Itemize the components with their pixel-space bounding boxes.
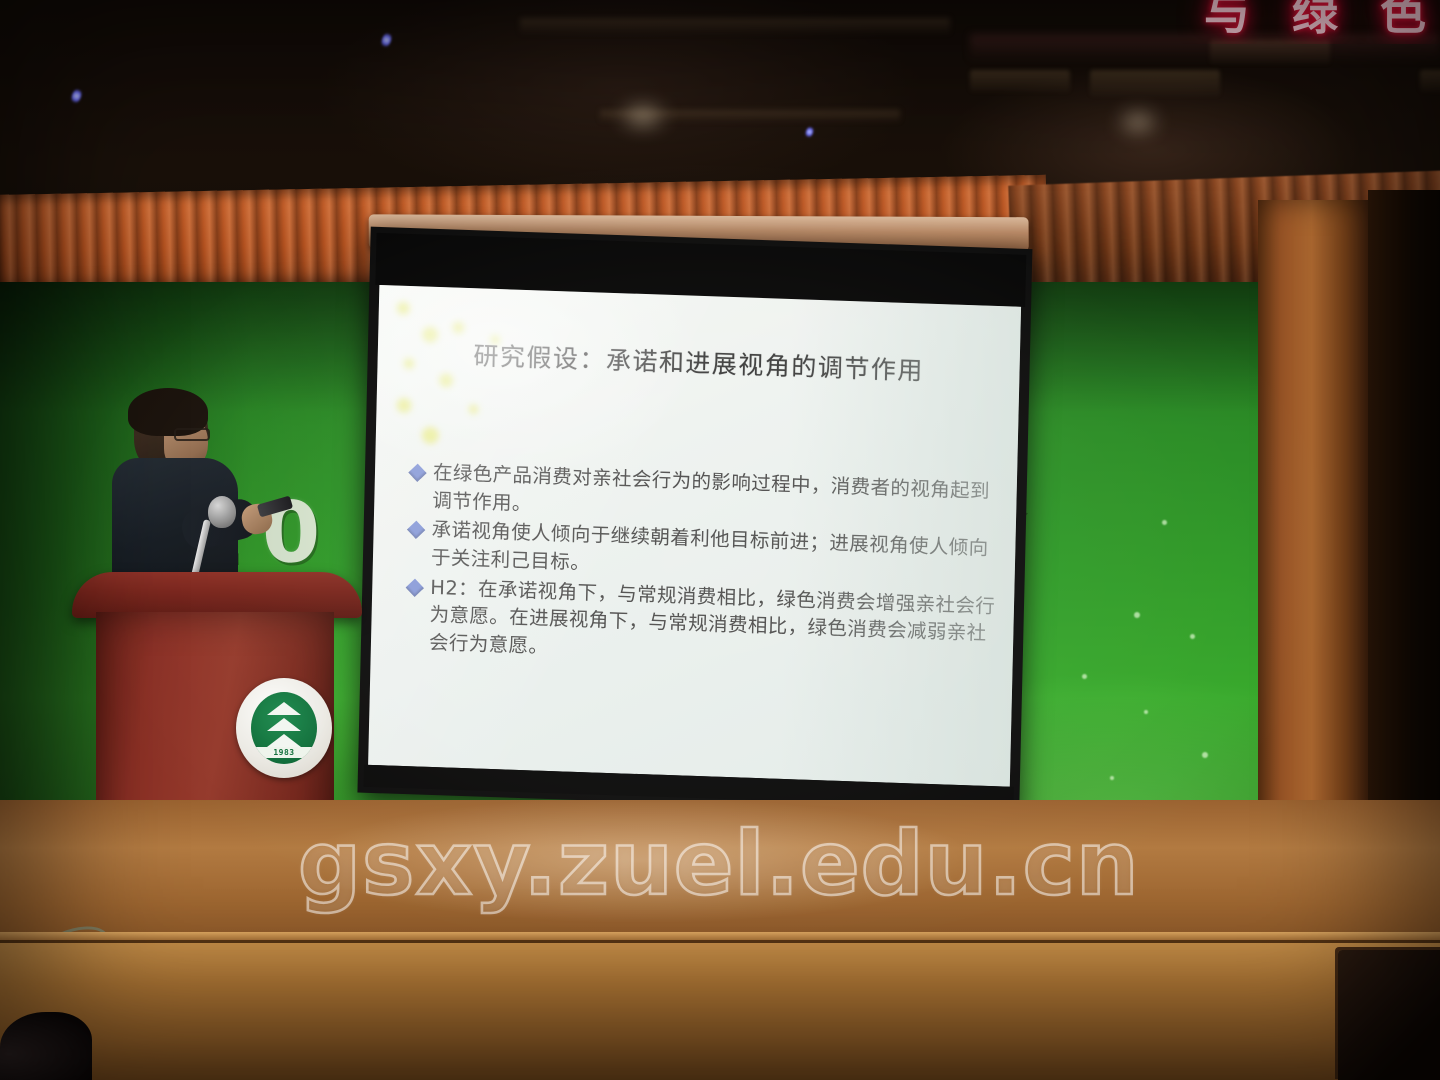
microphone-head: [208, 496, 236, 528]
blue-ceiling-light: [380, 31, 394, 49]
slide-title: 研究假设：承诺和进展视角的调节作用: [377, 333, 1020, 391]
right-dark-wall: [1368, 190, 1440, 850]
presentation-photo-scene: 与 绿 色 20 年绿 题研讨会: [0, 0, 1440, 1080]
emblem-year: 1983: [251, 747, 317, 758]
presentation-slide: 研究假设：承诺和进展视角的调节作用 在绿色产品消费对亲社会行为的影响过程中，消费…: [368, 285, 1021, 787]
glasses-icon: [174, 428, 210, 441]
university-emblem: 1983: [236, 678, 332, 778]
diamond-bullet-icon: [407, 521, 425, 539]
foreground-silhouette: [0, 1012, 92, 1080]
diamond-bullet-icon: [408, 464, 426, 482]
blue-ceiling-light: [804, 125, 815, 139]
slide-bullet-item: H2：在承诺视角下，与常规消费相比，绿色消费会增强亲社会行为意愿。在进展视角下，…: [407, 573, 999, 676]
blue-ceiling-light: [70, 87, 84, 105]
emblem-inner: 1983: [251, 692, 317, 764]
stage-front-panel: [0, 940, 1440, 1080]
led-char: 与: [1204, 0, 1252, 36]
led-char: 色: [1380, 0, 1428, 36]
red-led-marquee: 与 绿 色: [970, 0, 1440, 44]
screen-frame: 研究假设：承诺和进展视角的调节作用 在绿色产品消费对亲社会行为的影响过程中，消费…: [357, 227, 1032, 815]
led-char: 绿: [1292, 0, 1340, 36]
projection-screen: 研究假设：承诺和进展视角的调节作用 在绿色产品消费对亲社会行为的影响过程中，消费…: [357, 217, 1042, 820]
diamond-bullet-icon: [406, 578, 424, 596]
wooden-pillar: [1258, 200, 1370, 840]
foreground-dark-object: [1338, 950, 1440, 1080]
slide-bullet-list: 在绿色产品消费对亲社会行为的影响过程中，消费者的视角起到调节作用。 承诺视角使人…: [407, 458, 1001, 678]
bullet-text: H2：在承诺视角下，与常规消费相比，绿色消费会增强亲社会行为意愿。在进展视角下，…: [429, 574, 999, 676]
